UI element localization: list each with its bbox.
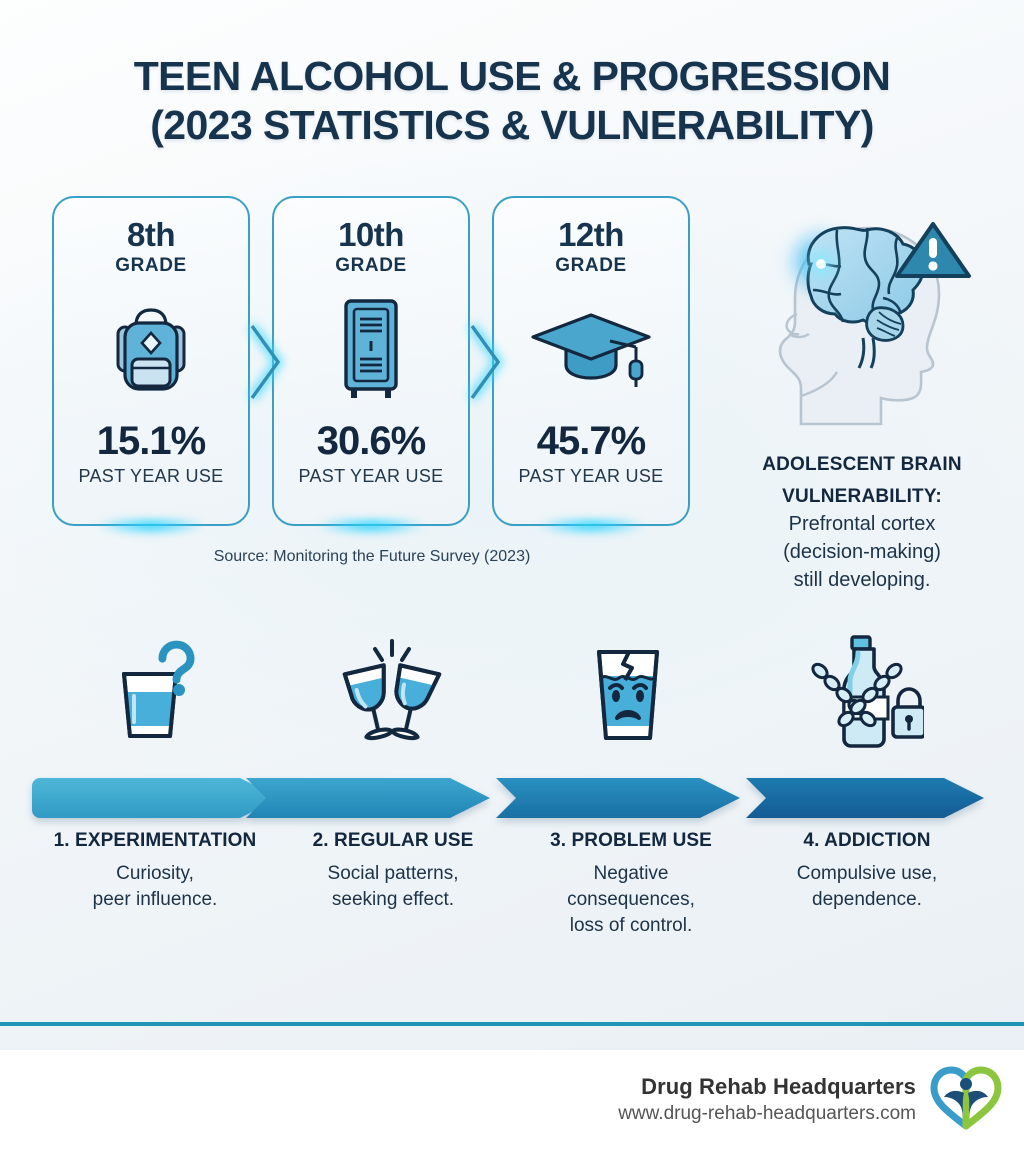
stage-title: 4. ADDICTION xyxy=(742,830,992,852)
stage-desc-line-1: Social patterns, xyxy=(328,863,459,884)
stage-desc-line-1: Compulsive use, xyxy=(797,863,937,884)
glass-question-icon xyxy=(76,628,236,758)
stage-desc-line-2: consequences, xyxy=(567,889,695,910)
footer-divider xyxy=(0,1022,1024,1026)
stage-desc-line-1: Negative xyxy=(594,863,669,884)
grade-percent-label: PAST YEAR USE xyxy=(494,466,688,487)
grade-word: GRADE xyxy=(54,255,248,277)
progression-icons xyxy=(0,620,1024,760)
stage-desc-line-2: dependence. xyxy=(812,889,922,910)
grade-card-12th: 12th GRADE 45.7% PAST YEAR USE xyxy=(492,196,690,526)
brain-heading-line-2: VULNERABILITY: xyxy=(712,485,1012,509)
stage-regular-use: 2. REGULAR USE Social patterns, seeking … xyxy=(268,830,518,913)
stage-desc-line-3: loss of control. xyxy=(570,915,693,936)
stage-problem-use: 3. PROBLEM USE Negative consequences, lo… xyxy=(506,830,756,939)
stage-title: 1. EXPERIMENTATION xyxy=(30,830,280,852)
grade-word: GRADE xyxy=(274,255,468,277)
bottle-chain-lock-icon xyxy=(784,628,944,758)
source-caption: Source: Monitoring the Future Survey (20… xyxy=(52,548,692,566)
graduation-cap-icon xyxy=(494,293,688,405)
grade-word: GRADE xyxy=(494,255,688,277)
brand-url[interactable]: www.drug-rehab-headquarters.com xyxy=(618,1103,916,1125)
stage-title: 3. PROBLEM USE xyxy=(506,830,756,852)
stage-desc-line-2: seeking effect. xyxy=(332,889,454,910)
stage-experimentation: 1. EXPERIMENTATION Curiosity, peer influ… xyxy=(30,830,280,913)
progression-arrow-track xyxy=(0,763,1024,833)
grade-percent-label: PAST YEAR USE xyxy=(54,466,248,487)
grade-percent-label: PAST YEAR USE xyxy=(274,466,468,487)
footer: Drug Rehab Headquarters www.drug-rehab-h… xyxy=(0,1050,1024,1154)
grade-number: 8th xyxy=(54,216,248,254)
title-line-1: TEEN ALCOHOL USE & PROGRESSION xyxy=(0,52,1024,101)
cracked-sad-glass-icon xyxy=(548,628,708,758)
progression-section: 1. EXPERIMENTATION Curiosity, peer influ… xyxy=(0,620,1024,950)
stage-title: 2. REGULAR USE xyxy=(268,830,518,852)
grade-percent: 45.7% xyxy=(494,419,688,464)
grade-card-8th: 8th GRADE 15.1% PAST YEAR USE xyxy=(52,196,250,526)
locker-icon xyxy=(274,293,468,405)
brain-heading-line-1: ADOLESCENT BRAIN xyxy=(712,453,1012,477)
stage-desc-line-1: Curiosity, xyxy=(116,863,194,884)
brain-vulnerability-panel: ADOLESCENT BRAIN VULNERABILITY: Prefront… xyxy=(712,205,1012,593)
page-title: TEEN ALCOHOL USE & PROGRESSION (2023 STA… xyxy=(0,52,1024,150)
cheers-glasses-icon xyxy=(312,628,472,758)
brain-body-line-1: Prefrontal cortex xyxy=(712,512,1012,537)
grade-number: 12th xyxy=(494,216,688,254)
title-line-2: (2023 STATISTICS & VULNERABILITY) xyxy=(0,101,1024,150)
backpack-icon xyxy=(54,293,248,405)
grade-percent: 30.6% xyxy=(274,419,468,464)
stage-desc-line-2: peer influence. xyxy=(93,889,218,910)
brain-body-line-2: (decision-making) xyxy=(712,540,1012,565)
brain-head-warning-icon xyxy=(712,205,1012,445)
brain-body-line-3: still developing. xyxy=(712,568,1012,593)
grade-stats-group: 8th GRADE 15.1% PAST YEAR USE 10th GRADE xyxy=(52,196,692,526)
heart-people-logo xyxy=(930,1064,1002,1135)
grade-number: 10th xyxy=(274,216,468,254)
stage-addiction: 4. ADDICTION Compulsive use, dependence. xyxy=(742,830,992,913)
grade-percent: 15.1% xyxy=(54,419,248,464)
brand-name: Drug Rehab Headquarters xyxy=(618,1074,916,1100)
grade-card-10th: 10th GRADE 30.6% PAST YEAR USE xyxy=(272,196,470,526)
